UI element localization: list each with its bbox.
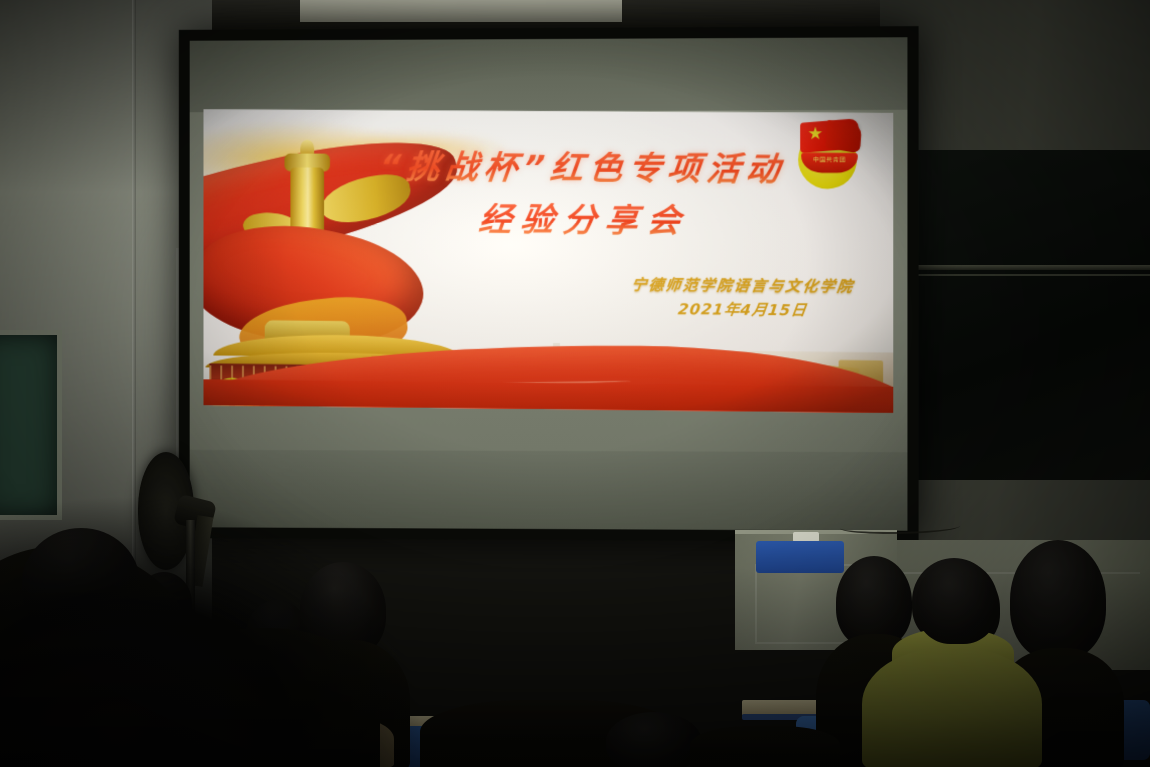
- podium-blue-tray: [756, 541, 844, 573]
- audience-head: [916, 560, 998, 644]
- projection-screen: 中国共青团 “挑战杯”红色专项活动 经验分享会 宁德师范学院语言与文化学院 20…: [179, 26, 919, 542]
- ceiling-light-fixture: [300, 0, 622, 22]
- audience-head: [606, 712, 702, 767]
- slide-organization: 宁德师范学院语言与文化学院: [600, 273, 887, 297]
- student-olive-hoodie: [862, 648, 1042, 767]
- slide-title-line-1: “挑战杯”红色专项活动: [378, 150, 883, 186]
- audience-foreground-silhouette: [690, 726, 840, 767]
- screen-blank-top: [190, 37, 908, 112]
- slide-title-line-2: 经验分享会: [477, 203, 882, 239]
- audience-head: [1010, 540, 1106, 660]
- screen-surface: 中国共青团 “挑战杯”红色专项活动 经验分享会 宁德师范学院语言与文化学院 20…: [190, 37, 908, 531]
- emblem-red-flag-fold: [826, 120, 862, 154]
- foreground-shadow: [0, 467, 440, 767]
- chalkboard-rail-secondary: [892, 274, 1150, 276]
- chalkboard-rail: [892, 265, 1150, 270]
- slide-date: 2021年4月15日: [600, 298, 887, 322]
- chalkboard: [892, 150, 1150, 480]
- projected-slide: 中国共青团 “挑战杯”红色专项活动 经验分享会 宁德师范学院语言与文化学院 20…: [203, 109, 893, 413]
- classroom-photo: 中国共青团 “挑战杯”红色专项活动 经验分享会 宁德师范学院语言与文化学院 20…: [0, 0, 1150, 767]
